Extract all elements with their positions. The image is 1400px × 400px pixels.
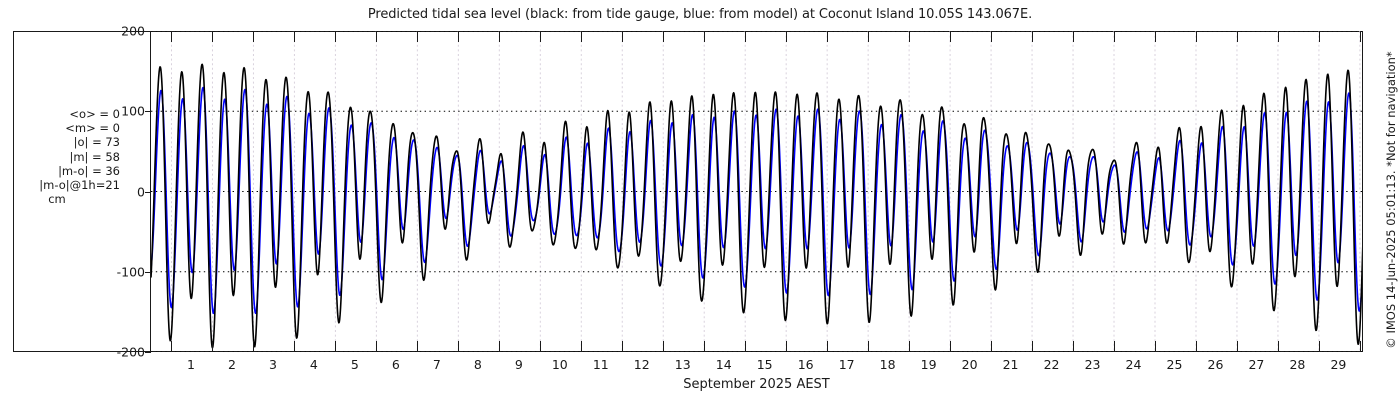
credit-container: © IMOS 14-Jun-2025 05:01:13. *Not for na… [1382,0,1400,400]
x-tick-label: 4 [310,357,318,372]
x-axis-title: September 2025 AEST [150,377,1363,392]
x-tick-top [253,31,254,42]
y-tick [145,272,151,273]
x-tick-bottom [622,341,623,352]
x-tick-top [622,31,623,42]
x-tick-bottom [376,341,377,352]
stat-unit: cm [8,192,120,206]
x-tick-label: 14 [716,357,732,372]
x-tick-top [1114,31,1115,42]
x-tick-bottom [294,341,295,352]
statistics-block: <o> = 0 <m> = 0 |o| = 73 |m| = 58 |m-o| … [8,107,120,206]
x-tick-label: 19 [921,357,937,372]
x-tick-label: 13 [675,357,691,372]
x-tick-top [294,31,295,42]
plot-area: 2001000-100-200 [150,31,1363,352]
x-tick-label: 16 [798,357,814,372]
x-tick-label: 10 [552,357,568,372]
plot-canvas [151,31,1362,352]
x-tick-bottom [1360,341,1361,352]
x-tick-label: 18 [880,357,896,372]
x-tick-top [458,31,459,42]
y-tick-label: 200 [121,24,145,39]
x-tick-top [1196,31,1197,42]
x-tick-label: 23 [1085,357,1101,372]
x-tick-top [745,31,746,42]
y-tick [145,31,151,32]
x-tick-top [827,31,828,42]
x-tick-bottom [253,341,254,352]
x-tick-bottom [212,341,213,352]
x-tick-top [171,31,172,42]
y-tick-label: -100 [117,264,145,279]
x-tick-top [1032,31,1033,42]
x-tick-bottom [417,341,418,352]
x-tick-bottom [458,341,459,352]
x-tick-bottom [868,341,869,352]
x-tick-bottom [1155,341,1156,352]
x-tick-bottom [1114,341,1115,352]
y-tick-label: 100 [121,104,145,119]
series-line-model [151,88,1362,314]
y-tick [145,111,151,112]
x-tick-top [540,31,541,42]
x-tick-bottom [786,341,787,352]
x-tick-bottom [581,341,582,352]
x-tick-bottom [827,341,828,352]
x-tick-top [868,31,869,42]
tide-series-svg [151,31,1362,352]
x-tick-label: 2 [228,357,236,372]
x-tick-bottom [171,341,172,352]
x-tick-label: 25 [1167,357,1183,372]
x-tick-label: 11 [593,357,609,372]
x-tick-label: 12 [634,357,650,372]
x-tick-label: 26 [1208,357,1224,372]
y-tick [145,192,151,193]
x-tick-label: 29 [1330,357,1346,372]
x-tick-label: 28 [1289,357,1305,372]
x-tick-top [991,31,992,42]
series-line-tide-gauge [151,64,1362,348]
x-tick-label: 6 [392,357,400,372]
x-tick-bottom [991,341,992,352]
x-tick-bottom [704,341,705,352]
x-tick-bottom [1196,341,1197,352]
stat-absmean-modelled: |m| = 58 [8,150,120,164]
x-tick-top [212,31,213,42]
x-tick-top [909,31,910,42]
x-tick-bottom [1319,341,1320,352]
x-tick-top [376,31,377,42]
y-tick-label: -200 [117,345,145,360]
x-tick-label: 22 [1044,357,1060,372]
y-tick-label: 0 [137,184,145,199]
x-tick-label: 5 [351,357,359,372]
x-tick-top [704,31,705,42]
x-tick-top [1073,31,1074,42]
x-tick-label: 8 [474,357,482,372]
x-tick-top [950,31,951,42]
x-tick-label: 15 [757,357,773,372]
x-tick-top [663,31,664,42]
x-tick-bottom [663,341,664,352]
x-tick-label: 3 [269,357,277,372]
x-tick-bottom [335,341,336,352]
x-tick-bottom [1073,341,1074,352]
x-tick-top [581,31,582,42]
x-tick-label: 17 [839,357,855,372]
x-tick-bottom [540,341,541,352]
x-tick-top [1360,31,1361,42]
x-tick-bottom [1237,341,1238,352]
x-tick-bottom [1278,341,1279,352]
credit-text: © IMOS 14-Jun-2025 05:01:13. *Not for na… [1384,51,1398,348]
x-tick-label: 7 [433,357,441,372]
x-tick-top [335,31,336,42]
x-tick-bottom [499,341,500,352]
x-tick-top [1237,31,1238,42]
x-tick-label: 21 [1003,357,1019,372]
x-tick-label: 1 [187,357,195,372]
y-tick [145,352,151,353]
x-tick-top [786,31,787,42]
x-tick-label: 9 [515,357,523,372]
x-tick-label: 20 [962,357,978,372]
stat-abs-diff-1h: |m-o|@1h=21 [8,178,120,192]
x-tick-bottom [909,341,910,352]
x-tick-label: 27 [1248,357,1264,372]
stat-mean-observed: <o> = 0 [8,107,120,121]
x-tick-bottom [745,341,746,352]
tide-plot-page: Predicted tidal sea level (black: from t… [0,0,1400,400]
x-tick-top [1319,31,1320,42]
x-tick-label: 24 [1126,357,1142,372]
stat-mean-modelled: <m> = 0 [8,121,120,135]
x-tick-top [417,31,418,42]
x-tick-top [499,31,500,42]
stat-absmean-observed: |o| = 73 [8,135,120,149]
x-tick-bottom [1032,341,1033,352]
x-tick-top [1155,31,1156,42]
x-tick-top [1278,31,1279,42]
x-tick-bottom [950,341,951,352]
stat-abs-diff: |m-o| = 36 [8,164,120,178]
page-title: Predicted tidal sea level (black: from t… [0,7,1400,22]
